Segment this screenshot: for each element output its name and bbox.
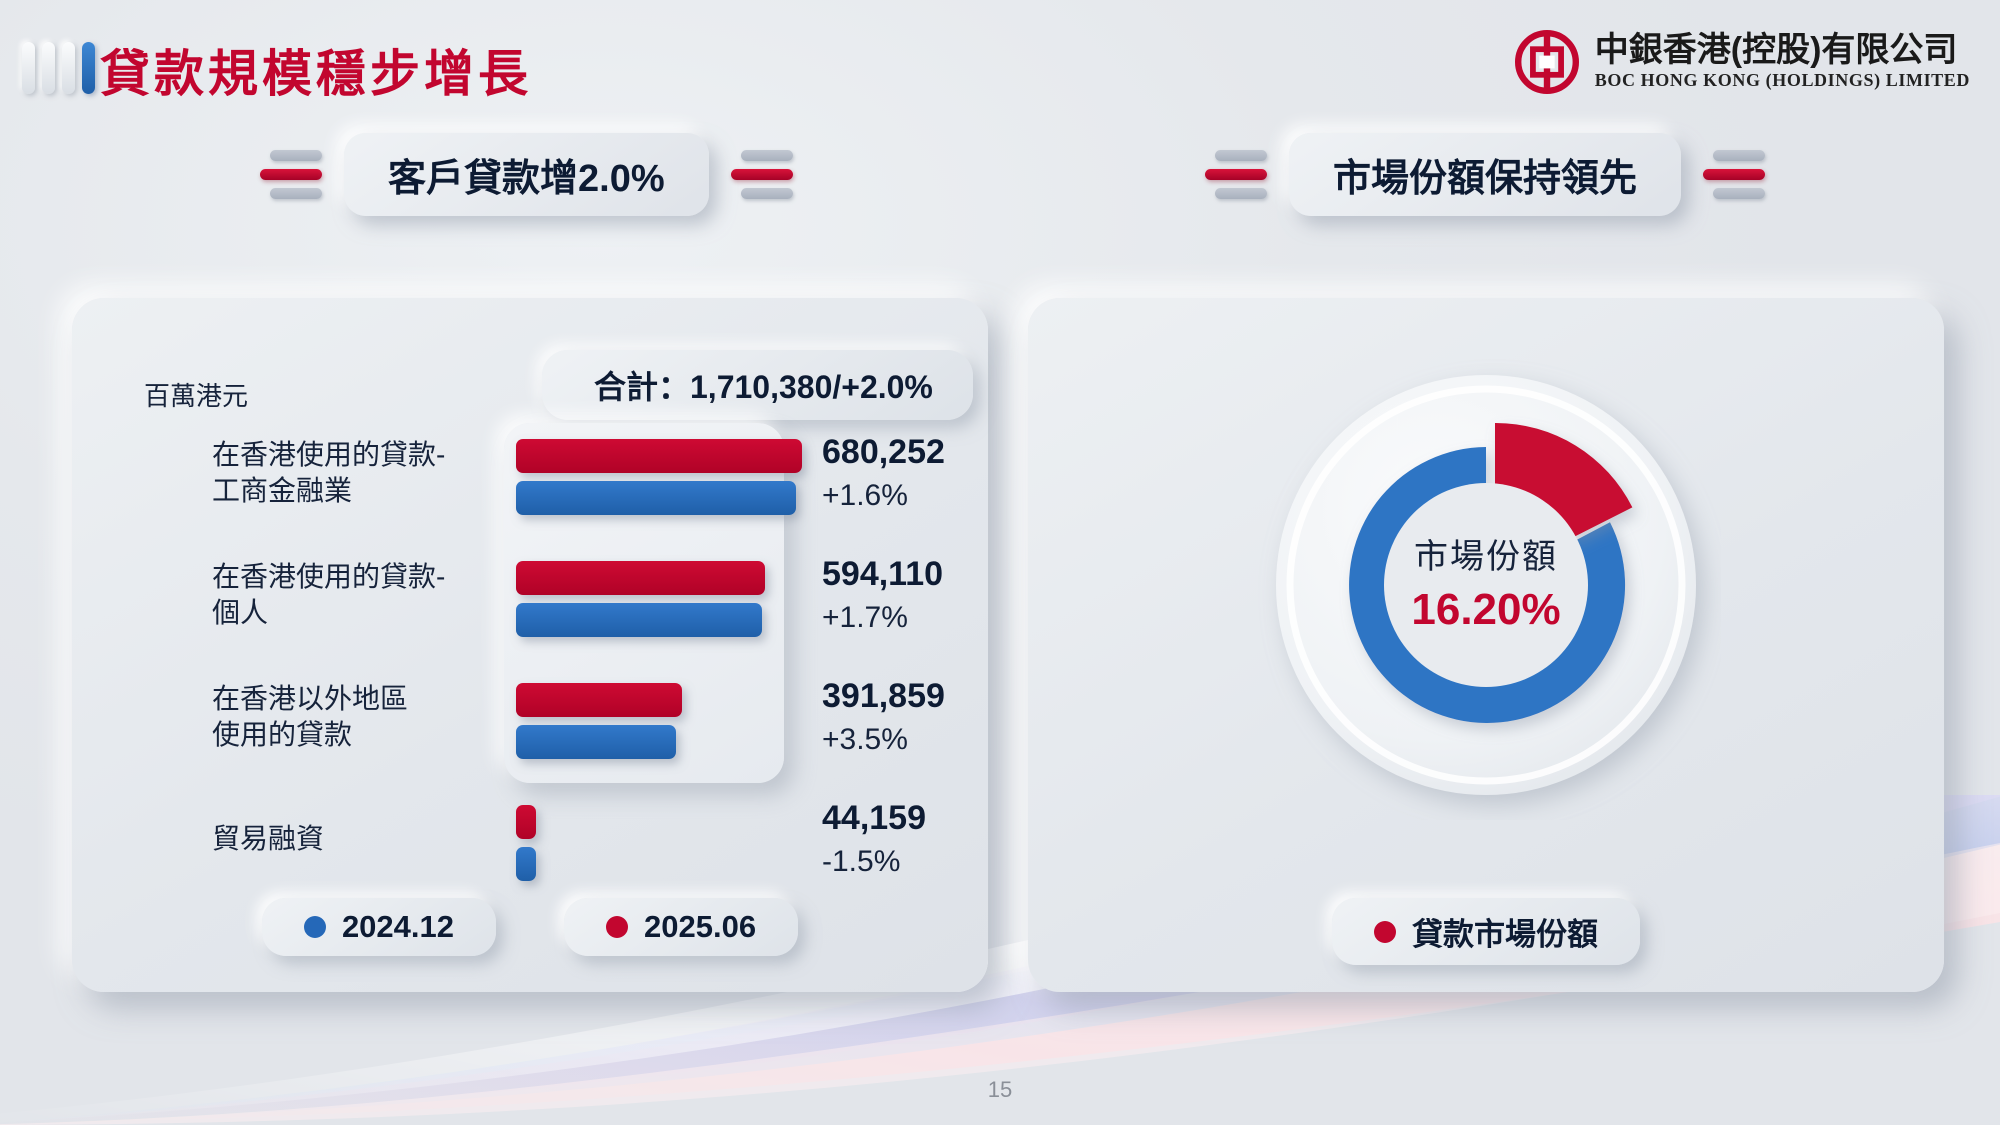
row-bars xyxy=(504,423,804,523)
row-label: 在香港以外地區 使用的貸款 xyxy=(212,681,492,753)
ornament-bars-left-icon xyxy=(260,150,322,199)
row-amount: 44,159 xyxy=(822,799,926,838)
page-title: 貸款規模穩步增長 xyxy=(100,34,532,106)
row-change: +3.5% xyxy=(822,723,908,757)
left-panel-heading: 客戶貸款增2.0% xyxy=(344,133,709,216)
ornament-bars-right-icon xyxy=(731,150,793,199)
left-section-header: 客戶貸款增2.0% xyxy=(260,133,793,216)
bar-2024-12 xyxy=(516,603,762,637)
legend-label: 2025.06 xyxy=(644,909,756,945)
market-share-donut: 市場份額 16.20% xyxy=(1251,350,1721,820)
legend-dot-icon xyxy=(304,916,326,938)
row-values: 391,859 +3.5% xyxy=(822,667,1052,767)
row-bars xyxy=(504,667,804,767)
row-bars xyxy=(504,789,804,889)
logo-name-en: BOC HONG KONG (HOLDINGS) LIMITED xyxy=(1595,70,1970,91)
row-label: 在香港使用的貸款- 個人 xyxy=(212,559,492,631)
row-amount: 594,110 xyxy=(822,555,943,594)
bar-2025-06 xyxy=(516,439,802,473)
donut-legend: 貸款市場份額 xyxy=(1028,898,1944,965)
total-badge: 合計：1,710,380/+2.0% xyxy=(542,350,973,420)
bar-2024-12 xyxy=(516,725,676,759)
legend-dot-icon xyxy=(1374,921,1396,943)
ornament-bars-left-icon-2 xyxy=(1205,150,1267,199)
row-change: +1.7% xyxy=(822,601,908,635)
table-row: 在香港使用的貸款- 工商金融業 680,252 +1.6% xyxy=(72,423,988,523)
bar-2025-06 xyxy=(516,561,765,595)
row-label: 貿易融資 xyxy=(212,821,492,857)
bar-2024-12 xyxy=(516,481,796,515)
row-amount: 391,859 xyxy=(822,677,945,716)
row-change: +1.6% xyxy=(822,479,908,513)
donut-center-text: 市場份額 16.20% xyxy=(1356,535,1616,635)
table-row: 在香港以外地區 使用的貸款 391,859 +3.5% xyxy=(72,667,988,767)
donut-value: 16.20% xyxy=(1356,585,1616,635)
boc-emblem-icon xyxy=(1515,30,1579,94)
bar-2024-12 xyxy=(516,847,536,881)
table-row: 在香港使用的貸款- 個人 594,110 +1.7% xyxy=(72,545,988,645)
row-values: 44,159 -1.5% xyxy=(822,789,1052,889)
page-number: 15 xyxy=(0,1077,2000,1103)
logo-name-cn: 中銀香港(控股)有限公司 xyxy=(1595,33,1970,69)
right-panel-heading: 市場份額保持領先 xyxy=(1289,133,1681,216)
bar-chart-rows: 在香港使用的貸款- 工商金融業 680,252 +1.6% 在香港使用的貸款- … xyxy=(72,423,988,911)
legend-dot-icon xyxy=(606,916,628,938)
slide-header: 貸款規模穩步增長 中銀香港(控股)有限公司 BOC HONG KONG (HOL… xyxy=(0,0,2000,120)
row-label: 在香港使用的貸款- 工商金融業 xyxy=(212,437,492,509)
legend-label: 2024.12 xyxy=(342,909,454,945)
unit-label: 百萬港元 xyxy=(144,376,248,413)
table-row: 貿易融資 44,159 -1.5% xyxy=(72,789,988,889)
bar-chart-legend: 2024.12 2025.06 xyxy=(72,898,988,956)
row-values: 594,110 +1.7% xyxy=(822,545,1052,645)
title-accent-bars-icon xyxy=(22,42,95,94)
market-share-donut-card: 市場份額 16.20% 貸款市場份額 xyxy=(1028,298,1944,992)
bar-2025-06 xyxy=(516,805,536,839)
legend-item-2025-06[interactable]: 2025.06 xyxy=(564,898,798,956)
legend-item-loan-market-share[interactable]: 貸款市場份額 xyxy=(1332,898,1640,965)
company-logo: 中銀香港(控股)有限公司 BOC HONG KONG (HOLDINGS) LI… xyxy=(1515,30,1970,94)
legend-label: 貸款市場份額 xyxy=(1412,909,1598,954)
row-values: 680,252 +1.6% xyxy=(822,423,1052,523)
row-amount: 680,252 xyxy=(822,433,945,472)
legend-item-2024-12[interactable]: 2024.12 xyxy=(262,898,496,956)
right-section-header: 市場份額保持領先 xyxy=(1205,133,1765,216)
ornament-bars-right-icon-2 xyxy=(1703,150,1765,199)
row-bars xyxy=(504,545,804,645)
row-change: -1.5% xyxy=(822,845,900,879)
loans-bar-chart-card: 百萬港元 合計：1,710,380/+2.0% 在香港使用的貸款- 工商金融業 … xyxy=(72,298,988,992)
bar-2025-06 xyxy=(516,683,682,717)
donut-label: 市場份額 xyxy=(1356,535,1616,579)
